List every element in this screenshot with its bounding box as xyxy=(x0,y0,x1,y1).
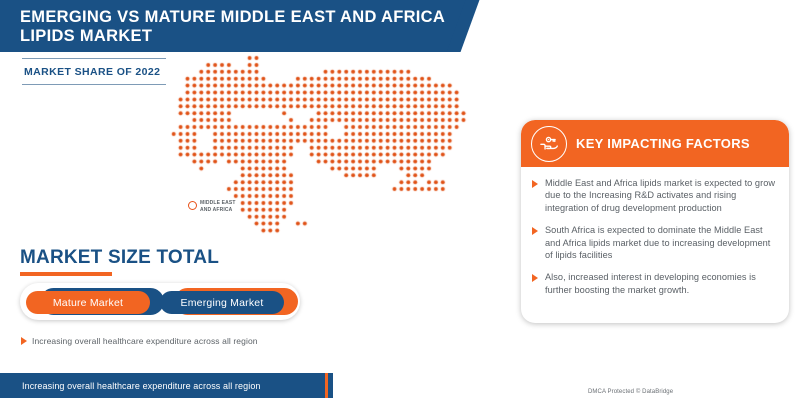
list-item-text: Also, increased interest in developing e… xyxy=(545,271,777,296)
triangle-bullet-icon xyxy=(532,227,538,235)
infographic-page: EMERGING VS MATURE MIDDLE EAST AND AFRIC… xyxy=(0,0,800,412)
list-item-text: Middle East and Africa lipids market is … xyxy=(545,177,777,214)
key-impacting-factors-panel: KEY IMPACTING FACTORS Middle East and Af… xyxy=(521,120,789,323)
emerging-market-pill[interactable]: Emerging Market xyxy=(160,288,300,315)
market-size-total-section: MARKET SIZE TOTAL xyxy=(20,247,320,276)
market-size-note-text: Increasing overall healthcare expenditur… xyxy=(32,336,258,346)
triangle-bullet-icon xyxy=(532,180,538,188)
market-share-subtitle: MARKET SHARE OF 2022 xyxy=(22,58,166,85)
market-pill-group: Mature Market Emerging Market xyxy=(20,283,300,320)
dot-matrix-world-map xyxy=(150,55,550,255)
list-item: Also, increased interest in developing e… xyxy=(532,271,777,296)
header-band: EMERGING VS MATURE MIDDLE EAST AND AFRIC… xyxy=(0,0,800,52)
triangle-bullet-icon xyxy=(532,274,538,282)
list-item-text: South Africa is expected to dominate the… xyxy=(545,224,777,261)
list-item: Middle East and Africa lipids market is … xyxy=(532,177,777,214)
market-size-total-underline xyxy=(20,272,112,276)
map-region-label: MIDDLE EAST AND AFRICA xyxy=(188,200,236,213)
header-white-wedge xyxy=(461,0,800,52)
page-title: EMERGING VS MATURE MIDDLE EAST AND AFRIC… xyxy=(20,8,480,46)
mature-market-pill-label[interactable]: Mature Market xyxy=(26,291,150,314)
market-size-note: Increasing overall healthcare expenditur… xyxy=(21,336,258,346)
bottom-banner-text: Increasing overall healthcare expenditur… xyxy=(0,381,261,391)
market-size-total-title: MARKET SIZE TOTAL xyxy=(20,247,320,269)
copyright-notice: DMCA Protected © DataBridge xyxy=(588,389,673,395)
key-impacting-factors-list: Middle East and Africa lipids market is … xyxy=(521,167,789,296)
mature-market-pill[interactable]: Mature Market xyxy=(26,288,166,315)
subtitle-label: MARKET SHARE OF 2022 xyxy=(22,59,166,84)
key-impacting-factors-title: KEY IMPACTING FACTORS xyxy=(576,136,750,151)
list-item: South Africa is expected to dominate the… xyxy=(532,224,777,261)
map-region-label-text: MIDDLE EAST AND AFRICA xyxy=(200,200,236,213)
map-marker-icon xyxy=(188,201,197,210)
key-impacting-factors-header: KEY IMPACTING FACTORS xyxy=(521,120,789,167)
triangle-bullet-icon xyxy=(21,337,27,345)
emerging-market-pill-label[interactable]: Emerging Market xyxy=(160,291,284,314)
bottom-banner: Increasing overall healthcare expenditur… xyxy=(0,373,333,398)
hand-holding-key-icon xyxy=(531,126,567,162)
subtitle-rule-bottom xyxy=(22,84,166,85)
bottom-banner-divider xyxy=(325,373,328,398)
